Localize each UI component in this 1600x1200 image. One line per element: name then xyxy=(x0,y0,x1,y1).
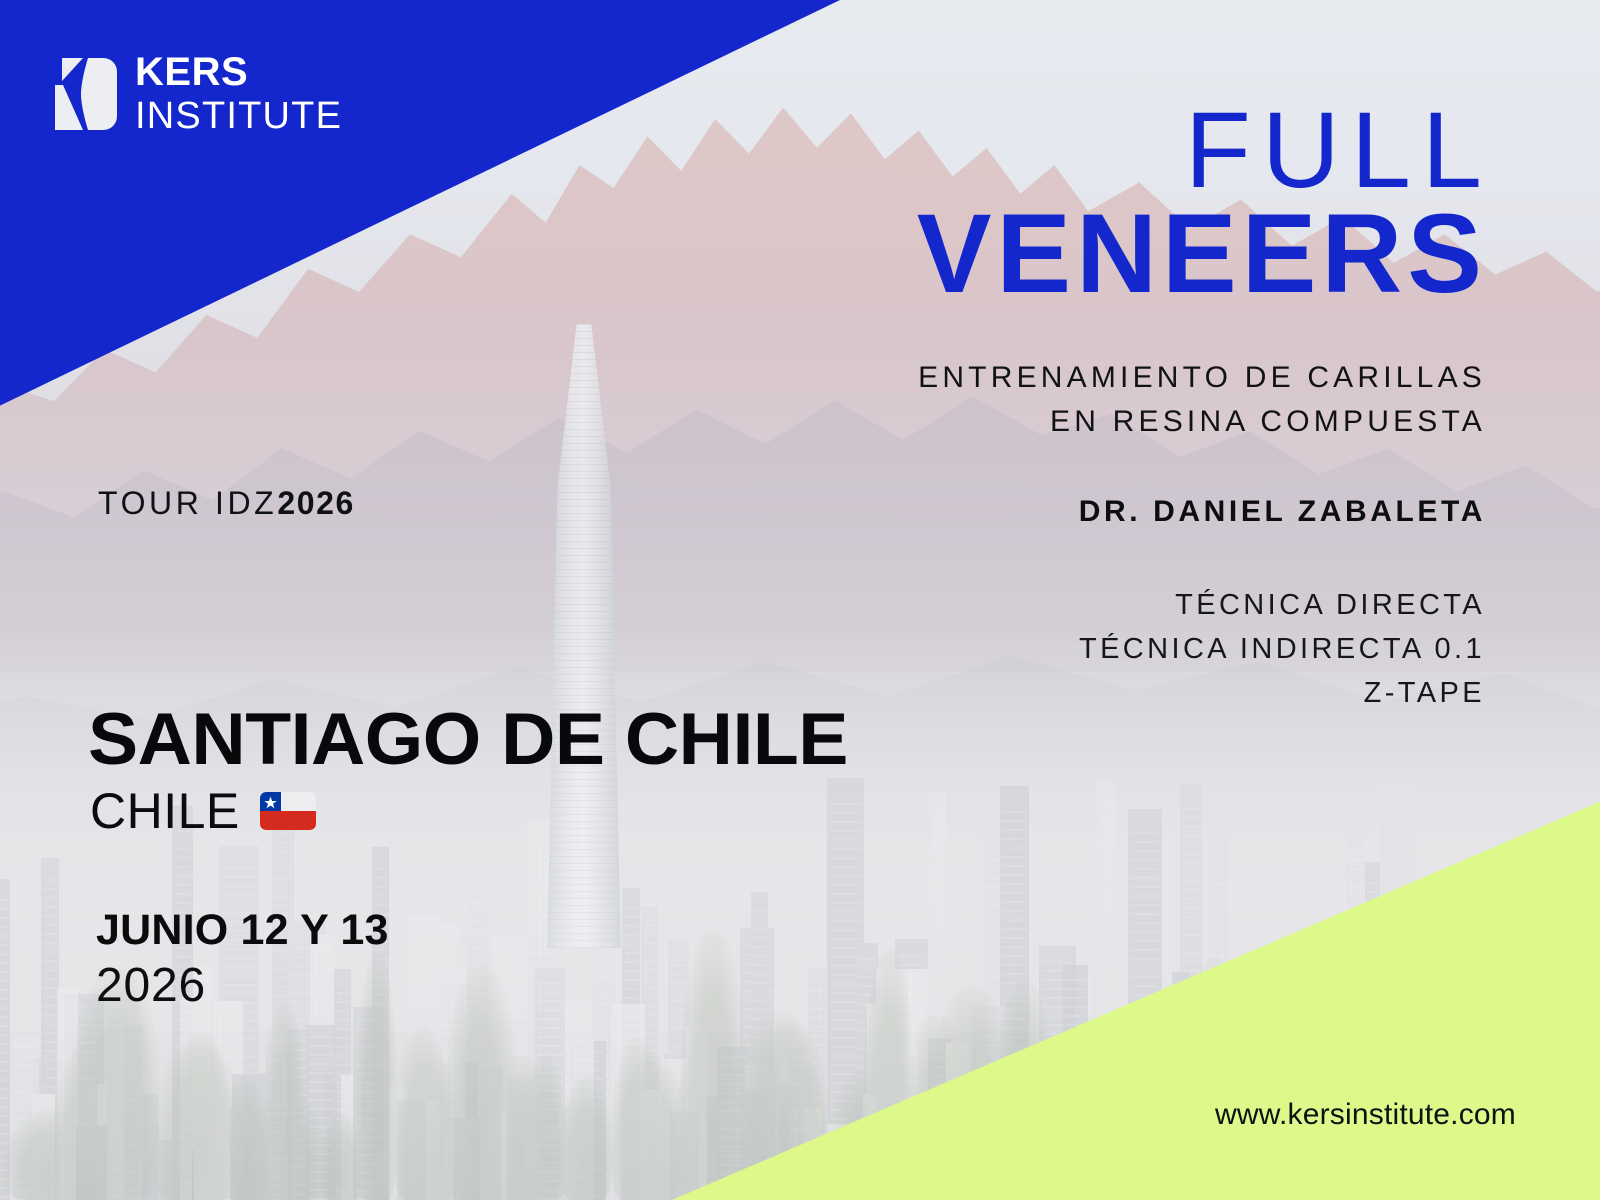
headline-line-full: FULL xyxy=(842,96,1493,204)
event-date-days: JUNIO 12 Y 13 xyxy=(96,906,389,955)
technique-item-indirect: TÉCNICA INDIRECTA 0.1 xyxy=(842,627,1485,671)
tour-year: 2026 xyxy=(277,485,355,521)
subheadline-line-1: ENTRENAMIENTO DE CARILLAS xyxy=(842,356,1486,400)
subheadline-line-2: EN RESINA COMPUESTA xyxy=(842,400,1486,444)
city-title: SANTIAGO DE CHILE xyxy=(88,698,848,781)
event-poster: KERS INSTITUTE FULL VENEERS ENTRENAMIENT… xyxy=(0,0,1600,1200)
kers-k-monogram-icon xyxy=(55,58,117,130)
subheadline: ENTRENAMIENTO DE CARILLAS EN RESINA COMP… xyxy=(842,356,1486,443)
country-row: CHILE xyxy=(90,782,316,840)
logo-wordmark: KERS INSTITUTE xyxy=(135,52,342,135)
tour-label-text: TOUR IDZ xyxy=(98,485,277,521)
logo-kers-text: KERS xyxy=(135,52,342,92)
technique-item-direct: TÉCNICA DIRECTA xyxy=(842,583,1485,627)
technique-item-ztape: Z-TAPE xyxy=(842,671,1485,715)
speaker-name: DR. DANIEL ZABALETA xyxy=(842,495,1486,529)
techniques-list: TÉCNICA DIRECTA TÉCNICA INDIRECTA 0.1 Z-… xyxy=(842,583,1485,715)
website-url[interactable]: www.kersinstitute.com xyxy=(1215,1098,1516,1132)
event-date-year: 2026 xyxy=(96,958,206,1013)
chile-flag-icon xyxy=(260,792,316,830)
country-label: CHILE xyxy=(90,782,240,840)
headline-column: FULL VENEERS ENTRENAMIENTO DE CARILLAS E… xyxy=(842,96,1482,715)
tour-label: TOUR IDZ2026 xyxy=(98,485,355,522)
kers-institute-logo[interactable]: KERS INSTITUTE xyxy=(55,52,342,135)
headline-line-veneers: VENEERS xyxy=(842,198,1487,310)
logo-institute-text: INSTITUTE xyxy=(135,97,342,135)
